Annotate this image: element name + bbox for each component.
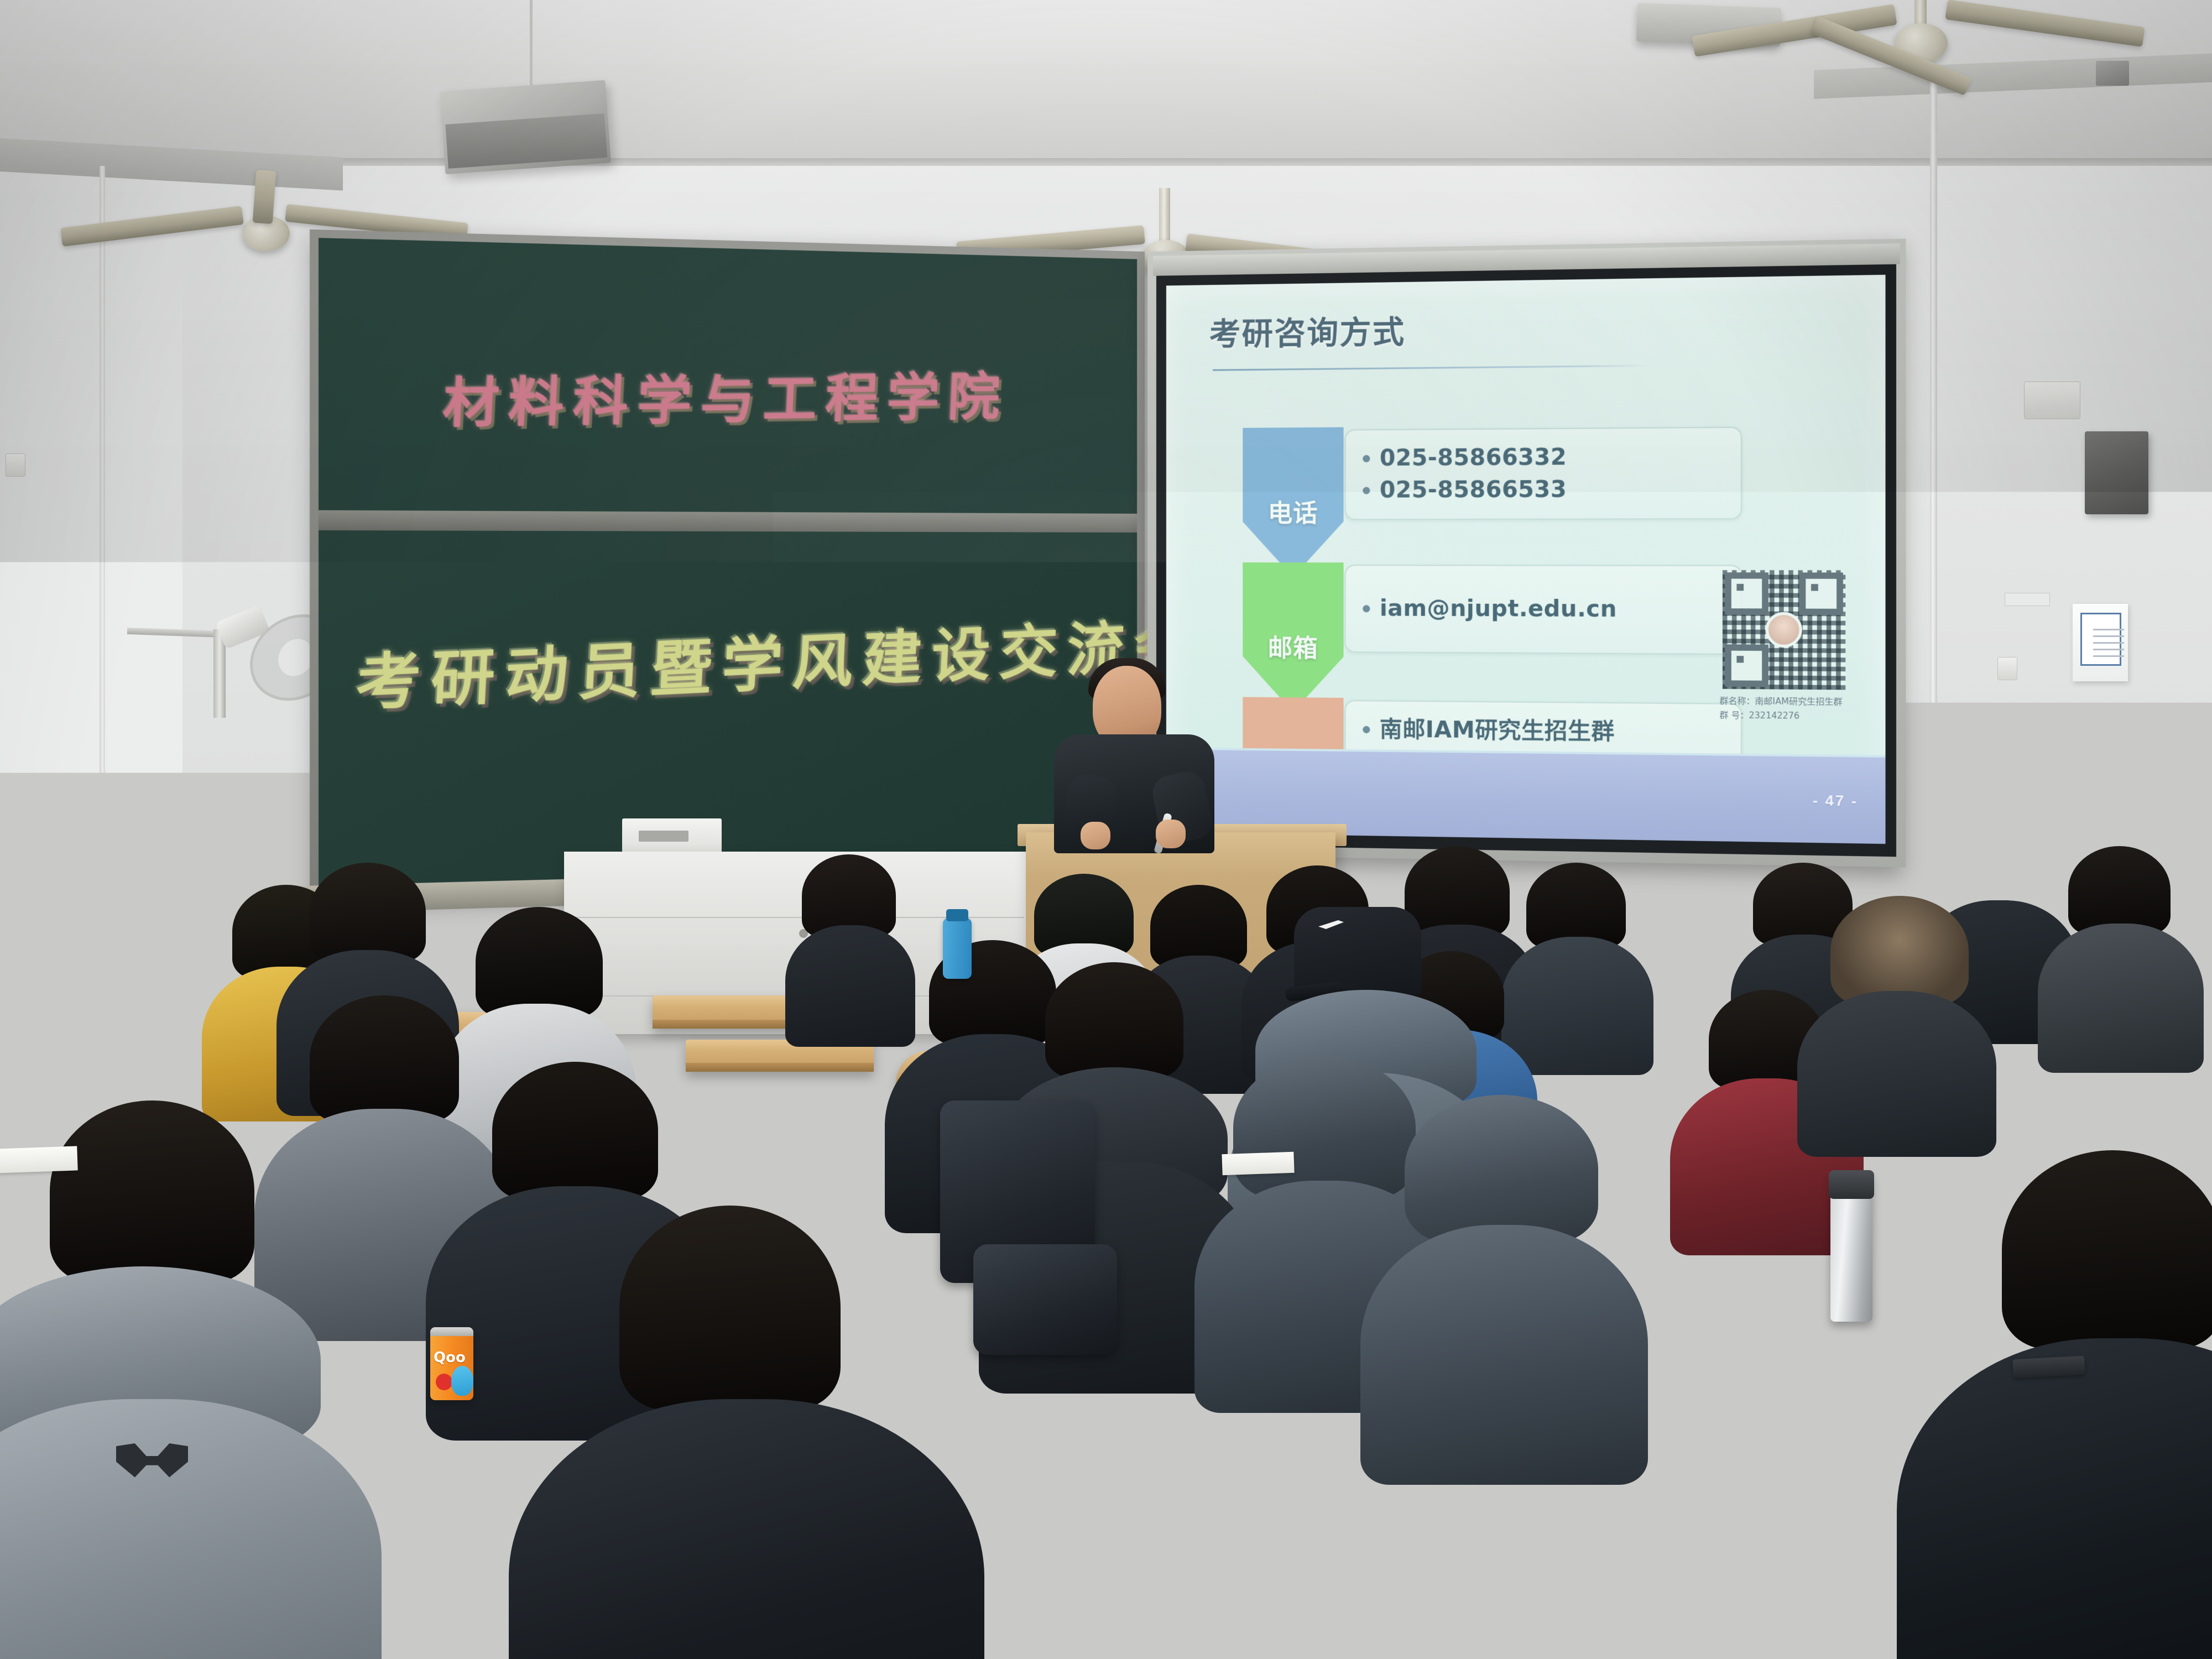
- light-switch[interactable]: [2024, 382, 2080, 419]
- speaker-grill: [445, 113, 607, 169]
- water-bottle[interactable]: [943, 918, 972, 979]
- student-hair: [1405, 846, 1510, 937]
- left-wall: [0, 166, 182, 995]
- thermos-flask[interactable]: [1830, 1172, 1872, 1322]
- qr-center-avatar: [1766, 612, 1802, 648]
- student-desk: [653, 1106, 874, 1145]
- blackboard-surface: 材料科学与工程学院 考研动员暨学风建设交流会: [319, 238, 1137, 890]
- student-hair: [310, 995, 459, 1123]
- panel-phone: 025-85866332 025-85866533: [1345, 427, 1742, 520]
- student-torso: [2038, 924, 2204, 1073]
- wall-seam-left: [100, 166, 105, 830]
- bottle-cap: [946, 909, 968, 921]
- wall-seam-right: [1930, 72, 1937, 796]
- poster-speech-bubble: [2080, 613, 2121, 666]
- can-lid: [430, 1327, 473, 1336]
- can-brand-label: Qoo: [434, 1349, 466, 1366]
- chair-back: [1753, 1327, 1919, 1383]
- student-hair: [2068, 846, 2171, 935]
- wall-control-box: [2096, 61, 2129, 86]
- student-hair: [619, 1206, 841, 1410]
- screen-bezel: 考研咨询方式 电话 025-85866332 025-85866533 邮箱: [1156, 264, 1896, 857]
- student-torso: [1501, 937, 1653, 1075]
- wall-notice-poster-icon: [2073, 604, 2128, 681]
- student-torso: [785, 925, 915, 1047]
- handout-paper[interactable]: [0, 1146, 78, 1173]
- projection-screen: 考研咨询方式 电话 025-85866332 025-85866533 邮箱: [1147, 239, 1906, 868]
- student-hair: [1526, 863, 1626, 948]
- presentation-slide: 考研咨询方式 电话 025-85866332 025-85866533 邮箱: [1166, 275, 1886, 844]
- qr-code-block: 群名称：南邮IAM研究生招生群 群 号：232142276: [1716, 570, 1852, 723]
- qr-code-icon: [1723, 570, 1845, 690]
- fur-hood: [1830, 896, 1969, 1006]
- list-item: iam@njupt.edu.cn: [1360, 593, 1725, 626]
- slide-title-rule: [1213, 365, 1651, 371]
- panel-email: iam@njupt.edu.cn: [1345, 565, 1742, 655]
- equipment-slot: [639, 831, 688, 842]
- slide-title: 考研咨询方式: [1209, 307, 1405, 354]
- classroom-photo: 材料科学与工程学院 考研动员暨学风建设交流会 考研咨询方式 电话 025-858…: [0, 0, 2212, 1659]
- backpack: [973, 1244, 1117, 1355]
- blackboard-heading-faculty: 材料科学与工程学院: [441, 355, 1010, 438]
- student-torso: [0, 1399, 382, 1659]
- qoo-juice-can[interactable]: Qoo: [430, 1327, 473, 1400]
- student-hair: [50, 1100, 254, 1283]
- qr-caption-id: 群 号：232142276: [1716, 708, 1852, 722]
- student-torso: [1360, 1225, 1648, 1485]
- wall-speaker-right-icon: [2085, 431, 2148, 514]
- student-hood: [1405, 1095, 1598, 1244]
- power-outlet[interactable]: [6, 453, 25, 477]
- slide-page-number: - 47 -: [1813, 792, 1858, 810]
- student-hood: [1233, 1056, 1416, 1200]
- power-outlet[interactable]: [1997, 657, 2017, 680]
- student-hair: [492, 1062, 658, 1200]
- fan-stem: [1914, 0, 1927, 27]
- can-graphic-dot: [436, 1374, 452, 1390]
- chair-back: [1648, 1548, 1880, 1631]
- fan-blade: [253, 170, 276, 224]
- wall-speaker-icon: [440, 80, 611, 175]
- smartphone[interactable]: [2012, 1356, 2085, 1379]
- side-whiteboard: [1948, 719, 2080, 835]
- qr-finder-pattern: [1725, 572, 1768, 615]
- student-hair: [1045, 962, 1183, 1078]
- nike-cap: [1294, 907, 1421, 995]
- can-mascot: [451, 1366, 473, 1396]
- student-hair: [77, 907, 188, 1004]
- chevron-label-email: 邮箱: [1243, 562, 1343, 712]
- student-hair: [476, 907, 603, 1018]
- student-hair: [1947, 824, 2049, 912]
- blackboard-divider: [319, 510, 1137, 533]
- presenter-hand-left: [1081, 822, 1110, 849]
- chevron-label-phone: 电话: [1243, 427, 1343, 577]
- student-hair: [310, 863, 426, 962]
- fan-stem: [1159, 188, 1170, 243]
- student-hair: [2002, 1150, 2212, 1349]
- list-item: 025-85866533: [1360, 473, 1725, 506]
- handout-paper[interactable]: [1222, 1152, 1294, 1176]
- qr-finder-pattern: [1799, 572, 1843, 615]
- list-item: 025-85866332: [1360, 441, 1725, 475]
- blackboard: 材料科学与工程学院 考研动员暨学风建设交流会: [310, 229, 1145, 899]
- desk-leg: [1678, 1323, 1692, 1483]
- qr-caption-name: 群名称：南邮IAM研究生招生群: [1716, 695, 1852, 708]
- student-torso: [1797, 991, 1996, 1157]
- whiteboard-notice-light: [2032, 727, 2070, 756]
- speaker-wire: [530, 0, 533, 94]
- qr-finder-pattern: [1725, 644, 1768, 687]
- presenter-hand-right: [1156, 820, 1186, 848]
- wall-sign: [2005, 593, 2050, 606]
- list-item: 南邮IAM研究生招生群: [1360, 713, 1725, 749]
- nike-swoosh-icon: [1318, 920, 1344, 929]
- whiteboard-notice-dark: [1956, 726, 1986, 750]
- presenter: [1051, 658, 1217, 846]
- thermos-lid: [1829, 1170, 1874, 1199]
